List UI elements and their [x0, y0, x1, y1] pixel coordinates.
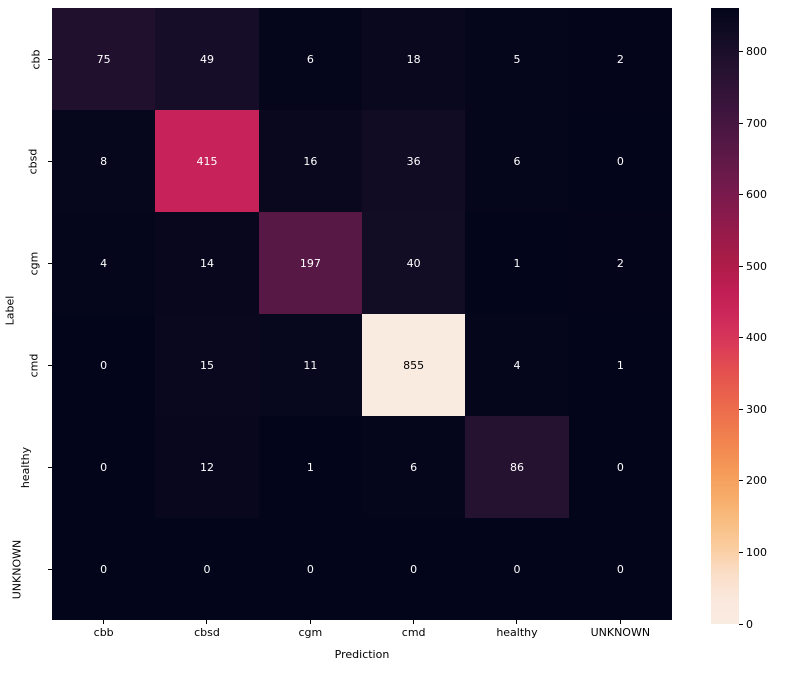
colorbar-gradient: [711, 8, 739, 624]
heatmap-cell-value: 8: [100, 156, 107, 167]
colorbar-tick: 800: [739, 45, 767, 59]
x-tick-mark: [206, 620, 207, 624]
y-tick-label-text: cbsd: [27, 148, 40, 174]
heatmap-cell: 36: [362, 110, 465, 212]
colorbar-tick-mark: [739, 552, 743, 553]
colorbar-tick-mark: [739, 624, 743, 625]
heatmap-cell: 0: [259, 518, 362, 620]
heatmap-cell: 0: [465, 518, 568, 620]
x-tick-mark-slot: [52, 620, 155, 624]
heatmap-cell: 6: [465, 110, 568, 212]
x-tick-mark: [516, 620, 517, 624]
x-tick-mark-slot: [465, 620, 568, 624]
x-axis-title: Prediction: [52, 648, 672, 661]
heatmap-cell-value: 6: [307, 54, 314, 65]
y-tick-label: UNKNOWN: [18, 518, 48, 620]
heatmap-cell: 75: [52, 8, 155, 110]
x-tick-label: cbb: [52, 626, 155, 644]
colorbar-tick: 500: [739, 259, 767, 273]
colorbar-tick-label: 700: [746, 117, 767, 130]
heatmap-cell: 18: [362, 8, 465, 110]
heatmap-cell-value: 855: [403, 360, 424, 371]
y-tick-label-text: cbb: [29, 49, 42, 69]
y-axis-title: Label: [0, 0, 20, 620]
x-tick-mark: [103, 620, 104, 624]
heatmap-cell: 855: [362, 314, 465, 416]
heatmap-cell: 4: [465, 314, 568, 416]
heatmap-cell-value: 49: [200, 54, 214, 65]
heatmap-cell-value: 4: [513, 360, 520, 371]
heatmap-cell-value: 11: [303, 360, 317, 371]
heatmap-cell-value: 5: [513, 54, 520, 65]
heatmap-cell-value: 40: [407, 258, 421, 269]
heatmap-cell-value: 4: [100, 258, 107, 269]
colorbar-tick: 600: [739, 188, 767, 202]
y-tick-label: cgm: [18, 212, 48, 314]
y-tick-label-text: cgm: [28, 251, 41, 275]
colorbar-tick-labels: 0100200300400500600700800: [739, 0, 787, 679]
colorbar-tick: 100: [739, 545, 767, 559]
x-tick-label: cmd: [362, 626, 465, 644]
heatmap-cell: 0: [362, 518, 465, 620]
heatmap-cell-value: 16: [303, 156, 317, 167]
heatmap-cell: 6: [259, 8, 362, 110]
x-tick-mark: [620, 620, 621, 624]
heatmap-cell-value: 15: [200, 360, 214, 371]
heatmap-cell: 0: [52, 314, 155, 416]
colorbar-tick-label: 400: [746, 331, 767, 344]
heatmap-cell: 0: [52, 518, 155, 620]
x-tick-mark: [310, 620, 311, 624]
x-axis-tick-labels: cbbcbsdcgmcmdhealthyUNKNOWN: [52, 626, 672, 644]
heatmap-cell: 16: [259, 110, 362, 212]
heatmap-cell: 2: [569, 8, 672, 110]
heatmap-cell: 0: [569, 518, 672, 620]
heatmap-cell: 0: [155, 518, 258, 620]
heatmap-cell: 8: [52, 110, 155, 212]
y-tick-label: cmd: [18, 314, 48, 416]
heatmap-cell-value: 2: [617, 258, 624, 269]
heatmap-cell: 86: [465, 416, 568, 518]
heatmap-cell-value: 14: [200, 258, 214, 269]
heatmap-cell: 0: [52, 416, 155, 518]
colorbar-tick-mark: [739, 123, 743, 124]
heatmap-cell-value: 6: [513, 156, 520, 167]
x-tick-mark: [413, 620, 414, 624]
x-tick-label: healthy: [465, 626, 568, 644]
heatmap-cell: 197: [259, 212, 362, 314]
heatmap-cell-value: 0: [307, 564, 314, 575]
y-tick-label: healthy: [18, 416, 48, 518]
colorbar-tick-mark: [739, 51, 743, 52]
heatmap-cell: 49: [155, 8, 258, 110]
y-tick-label: cbsd: [18, 110, 48, 212]
heatmap-cell-value: 0: [100, 462, 107, 473]
heatmap-cell: 40: [362, 212, 465, 314]
heatmap-cell: 12: [155, 416, 258, 518]
heatmap-cell-value: 0: [100, 360, 107, 371]
heatmap-cell: 4: [52, 212, 155, 314]
y-tick-label-text: cmd: [28, 353, 41, 377]
x-tick-label: cgm: [259, 626, 362, 644]
heatmap-cell-value: 2: [617, 54, 624, 65]
heatmap-cell-value: 0: [617, 462, 624, 473]
colorbar-tick-label: 500: [746, 260, 767, 273]
heatmap-cell-value: 18: [407, 54, 421, 65]
heatmap-cell: 5: [465, 8, 568, 110]
heatmap-cell-value: 0: [513, 564, 520, 575]
heatmap-cell-value: 6: [410, 462, 417, 473]
colorbar-tick: 0: [739, 617, 753, 631]
y-axis-title-text: Label: [4, 295, 17, 325]
heatmap-cell-value: 1: [513, 258, 520, 269]
heatmap-cell-value: 0: [203, 564, 210, 575]
confusion-matrix-figure: Label cbbcbsdcgmcmdhealthyUNKNOWN 754961…: [0, 0, 788, 679]
colorbar-tick-mark: [739, 480, 743, 481]
heatmap-cell: 11: [259, 314, 362, 416]
colorbar: [711, 8, 739, 624]
colorbar-tick: 700: [739, 116, 767, 130]
colorbar-tick-label: 0: [746, 618, 753, 631]
heatmap-cell-value: 0: [617, 156, 624, 167]
heatmap-cell-value: 86: [510, 462, 524, 473]
heatmap-cell: 0: [569, 110, 672, 212]
heatmap-cell-value: 36: [407, 156, 421, 167]
colorbar-tick-mark: [739, 409, 743, 410]
heatmap-cell: 1: [465, 212, 568, 314]
y-tick-label-text: UNKNOWN: [10, 539, 23, 599]
heatmap-cell-value: 197: [300, 258, 321, 269]
heatmap-cell: 15: [155, 314, 258, 416]
colorbar-tick: 300: [739, 402, 767, 416]
colorbar-tick-label: 600: [746, 188, 767, 201]
colorbar-tick-mark: [739, 266, 743, 267]
x-axis-tick-marks: [52, 620, 672, 624]
x-tick-mark-slot: [259, 620, 362, 624]
heatmap-cell-value: 415: [196, 156, 217, 167]
heatmap-cell: 14: [155, 212, 258, 314]
x-tick-mark-slot: [362, 620, 465, 624]
heatmap-cell: 6: [362, 416, 465, 518]
heatmap-grid: 7549618528415163660414197401201511855410…: [52, 8, 672, 620]
colorbar-tick: 200: [739, 474, 767, 488]
heatmap-cell: 1: [259, 416, 362, 518]
colorbar-tick-label: 100: [746, 546, 767, 559]
x-tick-mark-slot: [155, 620, 258, 624]
heatmap-cell: 415: [155, 110, 258, 212]
colorbar-tick-label: 800: [746, 45, 767, 58]
colorbar-tick: 400: [739, 331, 767, 345]
colorbar-tick-mark: [739, 194, 743, 195]
y-tick-label-text: healthy: [19, 446, 32, 487]
colorbar-tick-label: 300: [746, 403, 767, 416]
heatmap-cell-value: 0: [617, 564, 624, 575]
heatmap-cell-value: 0: [100, 564, 107, 575]
heatmap-cell-value: 75: [97, 54, 111, 65]
heatmap-cell-value: 1: [617, 360, 624, 371]
heatmap-cell-value: 0: [410, 564, 417, 575]
x-tick-label: UNKNOWN: [569, 626, 672, 644]
y-axis-tick-labels: cbbcbsdcgmcmdhealthyUNKNOWN: [18, 8, 48, 620]
x-tick-label: cbsd: [155, 626, 258, 644]
heatmap-cell-value: 12: [200, 462, 214, 473]
y-tick-label: cbb: [18, 8, 48, 110]
colorbar-tick-label: 200: [746, 474, 767, 487]
heatmap-cell: 1: [569, 314, 672, 416]
heatmap-cell: 2: [569, 212, 672, 314]
heatmap-cell-value: 1: [307, 462, 314, 473]
heatmap-cell: 0: [569, 416, 672, 518]
x-tick-mark-slot: [569, 620, 672, 624]
colorbar-tick-mark: [739, 337, 743, 338]
